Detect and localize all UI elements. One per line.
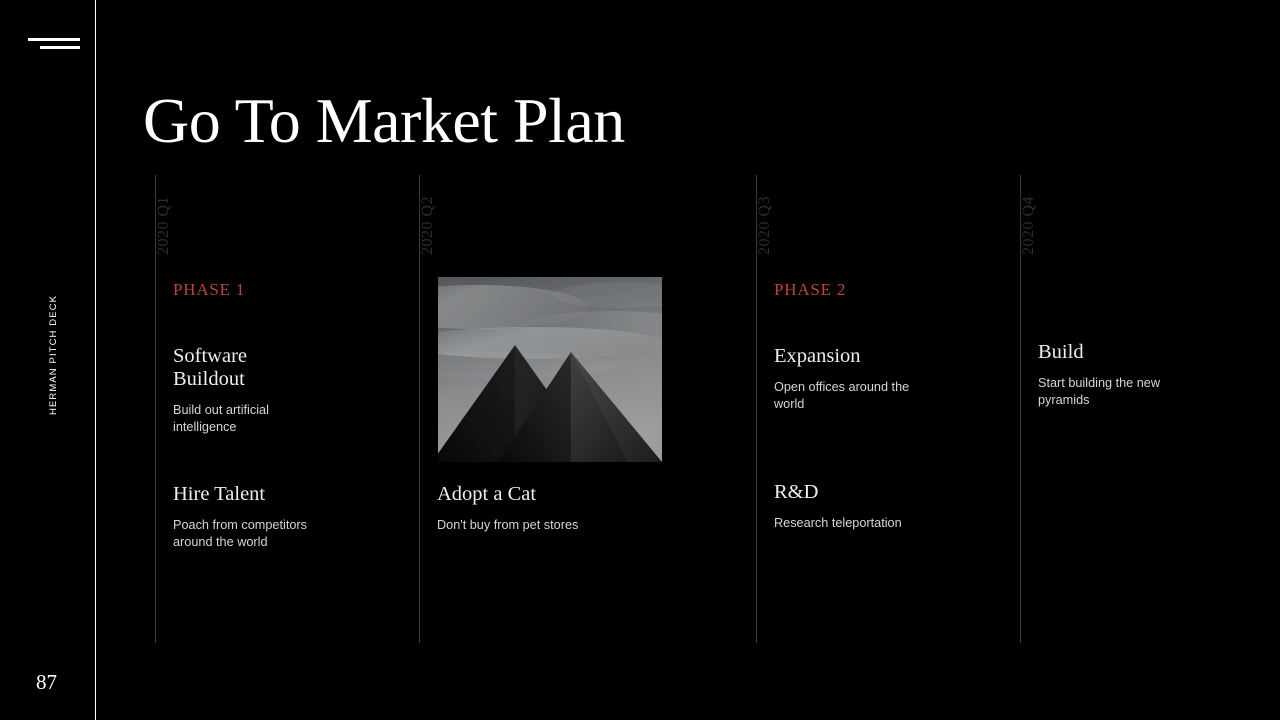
- pyramids-photo-graphic: [438, 277, 662, 462]
- timeline-columns: 2020 Q1 PHASE 1 Software Buildout Build …: [155, 175, 1155, 643]
- list-item: Hire Talent Poach from competitors aroun…: [173, 483, 323, 551]
- timeline-column-q3: 2020 Q3 PHASE 2 Expansion Open offices a…: [756, 175, 1020, 643]
- quarter-label-q1-text: 2020 Q1: [155, 196, 173, 255]
- item-description: Don't buy from pet stores: [437, 517, 622, 534]
- item-title: Software Buildout: [173, 345, 323, 391]
- page-title: Go To Market Plan: [143, 87, 625, 154]
- quarter-label-q1: 2020 Q1: [170, 175, 190, 255]
- quarter-label-q4: 2020 Q4: [1035, 175, 1055, 255]
- logo-mark-icon[interactable]: [28, 32, 80, 54]
- quarter-label-q4-text: 2020 Q4: [1020, 196, 1038, 255]
- logo-bar-bottom: [40, 46, 80, 49]
- quarter-label-q3: 2020 Q3: [771, 175, 791, 255]
- timeline-column-q1: 2020 Q1 PHASE 1 Software Buildout Build …: [155, 175, 419, 643]
- pyramids-photo: [438, 277, 662, 462]
- list-item: Adopt a Cat Don't buy from pet stores: [437, 483, 622, 534]
- item-description: Research teleportation: [774, 515, 934, 532]
- list-item: R&D Research teleportation: [774, 481, 934, 532]
- deck-side-label: HERMAN PITCH DECK: [48, 295, 59, 415]
- list-item: Expansion Open offices around the world: [774, 345, 934, 413]
- page-number: 87: [36, 672, 57, 693]
- quarter-label-q2: 2020 Q2: [434, 175, 454, 255]
- slide-canvas: HERMAN PITCH DECK 87 Go To Market Plan 2…: [0, 0, 1280, 720]
- phase-label-2: PHASE 2: [774, 280, 846, 300]
- item-title: Hire Talent: [173, 483, 323, 506]
- logo-bar-top: [28, 38, 80, 41]
- timeline-column-q4: 2020 Q4 Build Start building the new pyr…: [1020, 175, 1155, 643]
- item-description: Start building the new pyramids: [1038, 375, 1188, 409]
- quarter-label-q3-text: 2020 Q3: [756, 196, 774, 255]
- item-title: R&D: [774, 481, 934, 504]
- quarter-label-q2-text: 2020 Q2: [419, 196, 437, 255]
- item-title: Adopt a Cat: [437, 483, 622, 506]
- item-title: Build: [1038, 341, 1188, 364]
- timeline-column-q2: 2020 Q2: [419, 175, 756, 643]
- list-item: Software Buildout Build out artificial i…: [173, 345, 323, 436]
- item-title: Expansion: [774, 345, 934, 368]
- list-item: Build Start building the new pyramids: [1038, 341, 1188, 409]
- item-description: Poach from competitors around the world: [173, 517, 323, 551]
- item-description: Open offices around the world: [774, 379, 934, 413]
- item-description: Build out artificial intelligence: [173, 402, 323, 436]
- left-rail-divider: [95, 0, 96, 720]
- phase-label-1: PHASE 1: [173, 280, 245, 300]
